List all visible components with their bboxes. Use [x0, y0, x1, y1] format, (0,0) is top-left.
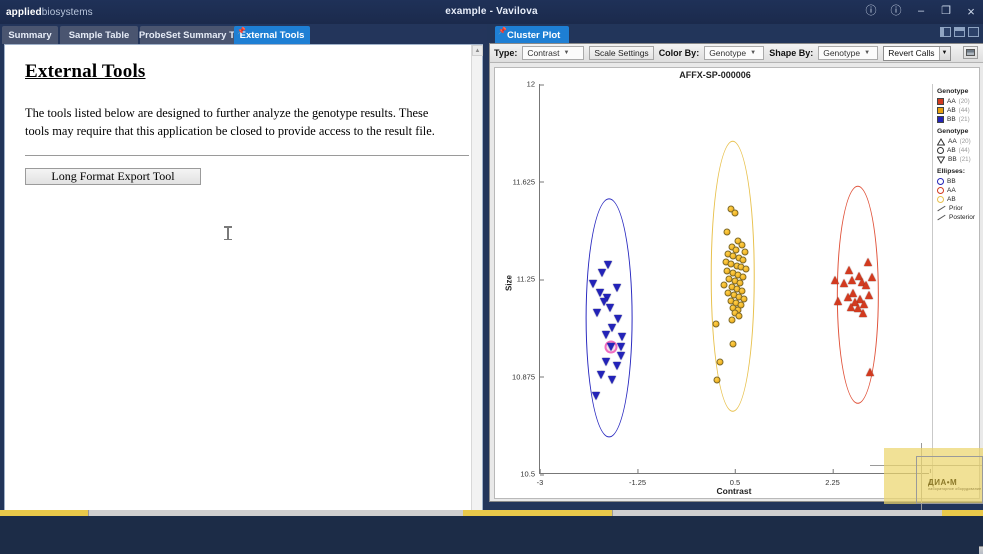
tab-sample-table[interactable]: Sample Table	[60, 26, 138, 44]
revert-calls-label: Revert Calls	[884, 47, 938, 60]
line-marker-icon	[937, 205, 946, 212]
type-value: Contrast	[527, 48, 559, 58]
type-label: Type:	[494, 48, 517, 58]
data-point-ab[interactable]	[716, 359, 723, 366]
data-point-bb[interactable]	[613, 284, 621, 292]
color-by-value: Genotype	[709, 48, 746, 58]
plot-status-strip	[979, 546, 983, 554]
tab-external-tools[interactable]: 📌 External Tools	[234, 26, 310, 44]
document-scrollbar[interactable]: ▲	[471, 45, 482, 511]
window-arrange-buttons	[940, 27, 979, 37]
cluster-ellipse-bb	[586, 198, 633, 437]
data-point-aa[interactable]	[848, 276, 856, 284]
data-point-aa[interactable]	[859, 309, 867, 317]
legend-ellipse-item-bb[interactable]: BB	[937, 177, 981, 186]
taskbar-strip	[0, 510, 983, 516]
ellipse-marker-icon	[937, 196, 944, 203]
legend-label: AB	[947, 147, 956, 154]
x-axis-tick: -1.25	[629, 473, 646, 487]
data-point-ab[interactable]	[732, 209, 739, 216]
data-point-bb[interactable]	[617, 343, 625, 351]
data-point-ab[interactable]	[736, 312, 743, 319]
data-point-ab[interactable]	[743, 266, 750, 273]
data-point-bb[interactable]	[589, 280, 597, 288]
legend-label: BB	[947, 116, 956, 123]
cluster-plot-window: Type: Contrast ▼ Scale Settings Color By…	[489, 43, 983, 502]
document-tab-strip: Summary Sample Table ProbeSet Summary Ta…	[0, 24, 487, 44]
legend-color-item-aa[interactable]: AA(20)	[937, 97, 981, 106]
plot-toolbar: Type: Contrast ▼ Scale Settings Color By…	[490, 44, 983, 63]
tab-summary[interactable]: Summary	[2, 26, 58, 44]
shape-by-label: Shape By:	[769, 48, 813, 58]
chevron-down-icon[interactable]: ▼	[939, 47, 950, 60]
y-axis-label: Size	[505, 275, 514, 291]
data-point-aa[interactable]	[866, 368, 874, 376]
legend-ellipse-item-ab[interactable]: AB	[937, 195, 981, 204]
data-point-ab[interactable]	[730, 341, 737, 348]
tab-label: Sample Table	[69, 30, 130, 41]
color-swatch-icon	[937, 98, 944, 105]
revert-calls-split-button[interactable]: Revert Calls ▼	[883, 46, 950, 61]
window-buttons: ⓘ ⓘ – ❐ ×	[863, 3, 979, 19]
split-vertical-icon[interactable]	[940, 27, 951, 37]
legend-ellipse-item-aa[interactable]: AA	[937, 186, 981, 195]
watermark-subtext: лабораторное оборудование	[928, 487, 981, 491]
tab-label: Cluster Plot	[507, 30, 560, 41]
data-point-bb[interactable]	[617, 352, 625, 360]
legend-ellipses-header: Ellipses:	[937, 168, 981, 175]
scale-settings-button[interactable]: Scale Settings	[589, 46, 653, 60]
data-point-bb[interactable]	[607, 343, 615, 351]
color-swatch-icon	[937, 107, 944, 114]
legend-label: AB	[947, 196, 956, 203]
y-axis-tick: 12	[527, 80, 540, 89]
triangle-down-marker-icon	[937, 156, 945, 164]
data-point-bb[interactable]	[602, 358, 610, 366]
ellipse-marker-icon	[937, 178, 944, 185]
taskbar-segment	[88, 510, 463, 516]
legend-label: AB	[947, 107, 956, 114]
data-point-bb[interactable]	[592, 392, 600, 400]
data-point-ab[interactable]	[723, 229, 730, 236]
data-point-bb[interactable]	[598, 269, 606, 277]
color-by-select[interactable]: Genotype ▼	[704, 46, 764, 60]
single-window-icon[interactable]	[968, 27, 979, 37]
ellipse-marker-icon	[937, 187, 944, 194]
data-point-aa[interactable]	[868, 273, 876, 281]
taskbar-segment	[612, 510, 942, 516]
x-axis-tick: -3	[537, 473, 544, 487]
close-button[interactable]: ×	[963, 3, 979, 19]
legend-shape-item-aa[interactable]: AA(20)	[937, 137, 981, 146]
data-point-ab[interactable]	[742, 248, 749, 255]
plot-axes: 10.510.87511.2511.62512-3-1.250.52.254	[539, 84, 929, 474]
data-point-bb[interactable]	[604, 261, 612, 269]
scroll-up-arrow[interactable]: ▲	[472, 45, 483, 56]
y-axis-tick: 10.875	[512, 372, 540, 381]
type-select[interactable]: Contrast ▼	[522, 46, 584, 60]
color-swatch-icon	[937, 116, 944, 123]
y-axis-tick: 11.625	[513, 177, 540, 186]
y-axis-tick: 11.25	[517, 275, 540, 284]
shape-by-select[interactable]: Genotype ▼	[818, 46, 878, 60]
text-cursor	[227, 226, 229, 240]
legend-shape-item-bb[interactable]: BB(21)	[937, 155, 981, 164]
data-point-aa[interactable]	[844, 293, 852, 301]
data-point-bb[interactable]	[602, 331, 610, 339]
data-point-aa[interactable]	[862, 281, 870, 289]
data-point-aa[interactable]	[840, 279, 848, 287]
chevron-down-icon: ▼	[750, 50, 756, 56]
legend-count: (21)	[959, 116, 970, 123]
data-point-ab[interactable]	[740, 257, 747, 264]
help-icon[interactable]: ⓘ	[863, 3, 879, 19]
plot-canvas: AFFX-SP-000006 Size Contrast 10.510.8751…	[494, 67, 980, 499]
legend-shape-item-ab[interactable]: AB(44)	[937, 146, 981, 155]
description-text: The tools listed below are designed to f…	[25, 105, 451, 141]
legend-label: BB	[948, 156, 957, 163]
plot-tab-strip: 📌 Cluster Plot	[487, 24, 983, 44]
legend-line-item-posterior[interactable]: Posterior	[937, 213, 981, 222]
divider	[25, 155, 469, 156]
chart-title: AFFX-SP-000006	[495, 70, 935, 80]
legend-count: (20)	[959, 98, 970, 105]
data-point-bb[interactable]	[593, 309, 601, 317]
title-bar: appliedbiosystems example - Vavilova ⓘ ⓘ…	[0, 0, 983, 24]
data-point-aa[interactable]	[845, 266, 853, 274]
external-tools-pane: External Tools The tools listed below ar…	[4, 44, 483, 512]
data-point-aa[interactable]	[831, 276, 839, 284]
data-point-ab[interactable]	[729, 317, 736, 324]
data-point-bb[interactable]	[614, 315, 622, 323]
legend-label: BB	[947, 178, 956, 185]
legend-color-header: Genotype	[937, 88, 981, 95]
legend-count: (21)	[960, 156, 971, 163]
tab-cluster-plot[interactable]: 📌 Cluster Plot	[495, 26, 569, 44]
legend-color-item-ab[interactable]: AB(44)	[937, 106, 981, 115]
tab-label: External Tools	[240, 30, 305, 41]
data-point-ab[interactable]	[712, 320, 719, 327]
chart-legend: GenotypeAA(20)AB(44)BB(21)GenotypeAA(20)…	[932, 84, 981, 484]
triangle-up-marker-icon	[937, 138, 945, 146]
color-by-label: Color By:	[659, 48, 700, 58]
document-content: External Tools The tools listed below ar…	[5, 45, 471, 511]
tab-label: Summary	[8, 30, 51, 41]
data-point-aa[interactable]	[864, 258, 872, 266]
legend-label: AA	[947, 98, 956, 105]
legend-shape-header: Genotype	[937, 128, 981, 135]
data-point-bb[interactable]	[597, 371, 605, 379]
data-point-aa[interactable]	[865, 291, 873, 299]
legend-count: (20)	[960, 138, 971, 145]
application-window: appliedbiosystems example - Vavilova ⓘ ⓘ…	[0, 0, 983, 516]
shape-by-value: Genotype	[823, 48, 860, 58]
legend-color-item-bb[interactable]: BB(21)	[937, 115, 981, 124]
data-point-bb[interactable]	[613, 362, 621, 370]
line-marker-icon	[937, 214, 946, 221]
page-title: External Tools	[25, 61, 451, 83]
x-axis-tick: 2.25	[825, 473, 840, 487]
chevron-down-icon: ▼	[864, 50, 870, 56]
data-point-aa[interactable]	[834, 297, 842, 305]
chevron-down-icon: ▼	[563, 50, 569, 56]
legend-count: (44)	[959, 107, 970, 114]
window-title: example - Vavilova	[0, 6, 983, 17]
data-point-bb[interactable]	[608, 376, 616, 384]
pin-icon: 📌	[498, 27, 507, 35]
circle-marker-icon	[937, 147, 944, 154]
watermark-text: ДИА•М	[928, 478, 957, 487]
legend-line-item-prior[interactable]: Prior	[937, 204, 981, 213]
legend-count: (44)	[959, 147, 970, 154]
legend-label: Posterior	[949, 214, 975, 221]
image-export-icon[interactable]	[963, 46, 978, 59]
pin-icon: 📌	[237, 27, 246, 35]
x-axis-tick: 0.5	[730, 473, 740, 487]
x-axis-label: Contrast	[539, 486, 929, 496]
data-point-ab[interactable]	[721, 281, 728, 288]
long-format-export-tool-button[interactable]: Long Format Export Tool	[25, 168, 201, 185]
split-horizontal-icon[interactable]	[954, 27, 965, 37]
legend-label: Prior	[949, 205, 963, 212]
data-point-ab[interactable]	[714, 376, 721, 383]
data-point-bb[interactable]	[618, 333, 626, 341]
legend-label: AA	[948, 138, 957, 145]
maximize-button[interactable]: ❐	[938, 3, 954, 19]
legend-label: AA	[947, 187, 956, 194]
data-point-bb[interactable]	[606, 304, 614, 312]
minimize-button[interactable]: –	[913, 3, 929, 19]
info-icon[interactable]: ⓘ	[888, 3, 904, 19]
